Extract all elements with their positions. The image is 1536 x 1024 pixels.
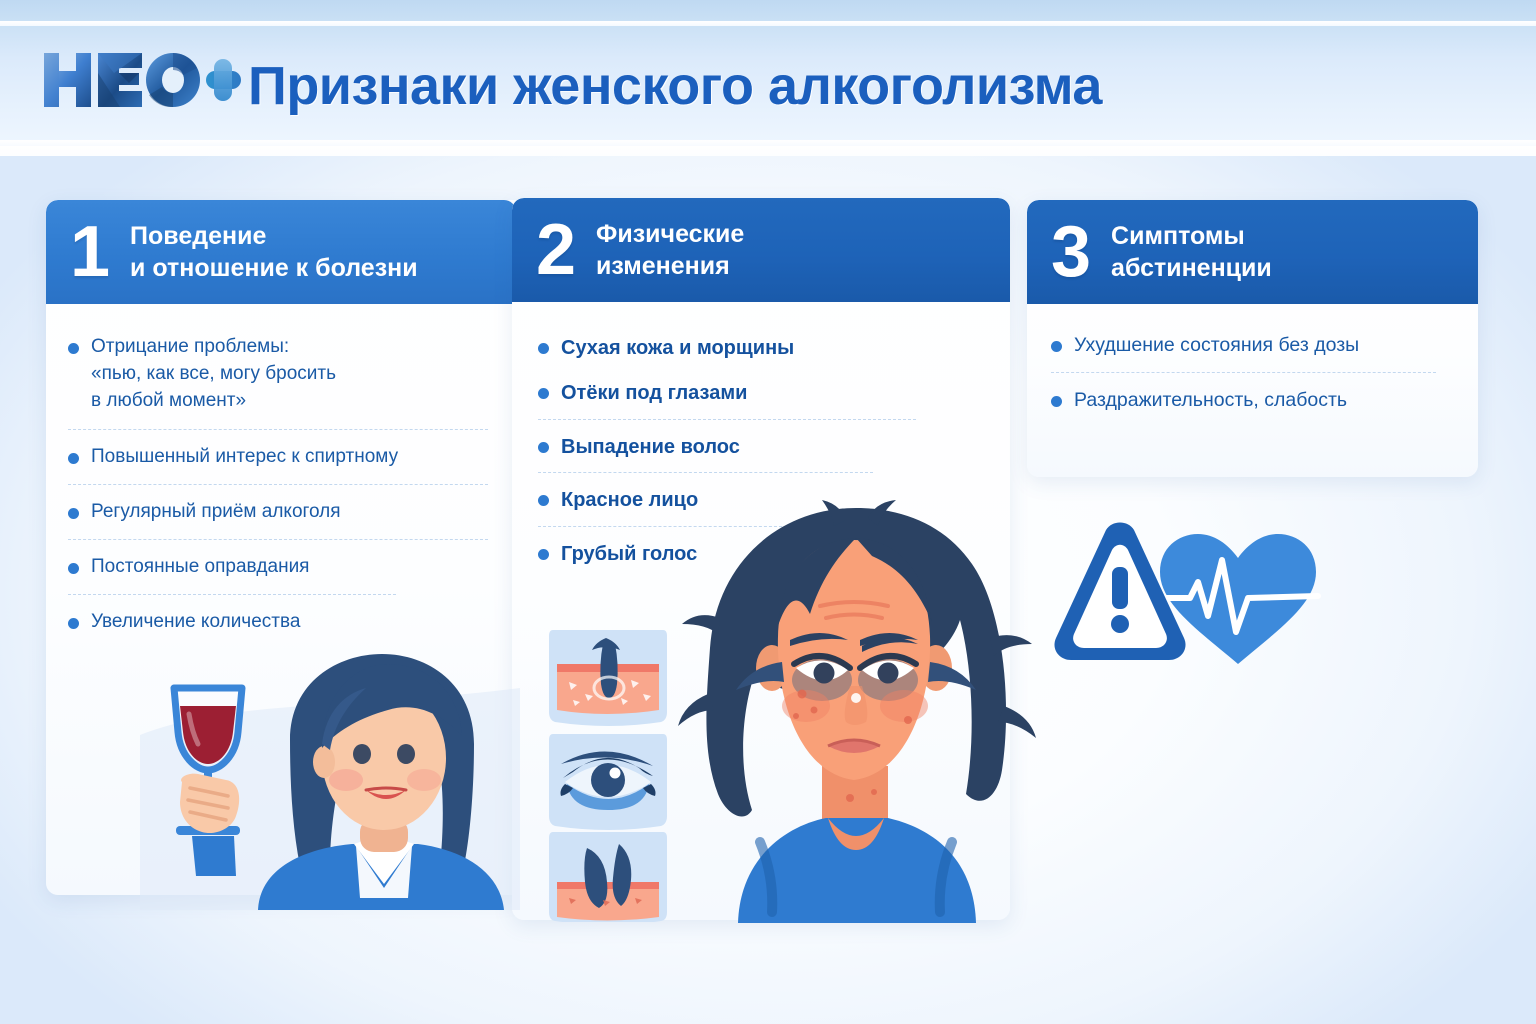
neo-plus-logo: НЕО+: [36, 47, 241, 113]
list-divider: [68, 429, 488, 430]
list-item[interactable]: Красное лицо: [538, 486, 968, 514]
list-divider: [68, 484, 488, 485]
card-title-line2: изменения: [596, 250, 744, 282]
list-item-label: Повышенный интерес к спиртному: [91, 444, 398, 471]
list-divider: [538, 472, 873, 473]
card-withdrawal-symptoms-list: Ухудшение состояния без дозы Раздражител…: [1051, 332, 1461, 414]
warning-and-heartbeat-illustration: [1048, 512, 1328, 682]
bullet-icon: [538, 549, 549, 560]
card-title-line1: Симптомы: [1111, 222, 1245, 250]
list-divider: [538, 419, 916, 420]
bullet-icon: [1051, 341, 1062, 352]
bullet-icon: [538, 495, 549, 506]
heart-with-ecg-icon: [1160, 534, 1318, 664]
list-item[interactable]: Увеличение количества: [68, 609, 488, 636]
list-item-label: Выпадение волос: [561, 433, 740, 461]
list-item[interactable]: Постоянные оправдания: [68, 554, 488, 581]
warning-triangle-icon: [1054, 523, 1185, 661]
card-behavior[interactable]: 1 Поведение и отношение к болезни Отрица…: [46, 200, 516, 895]
bullet-icon: [68, 508, 79, 519]
list-item-label: Грубый голос: [561, 540, 697, 568]
card-title-line2: и отношение к болезни: [130, 252, 418, 284]
card-behavior-list: Отрицание проблемы: «пью, как все, могу …: [68, 334, 488, 636]
list-item-label: Раздражительность, слабость: [1074, 387, 1347, 415]
list-item-label: Регулярный приём алкоголя: [91, 499, 341, 526]
list-item-label: Постоянные оправдания: [91, 554, 309, 581]
list-item[interactable]: Регулярный приём алкоголя: [68, 499, 488, 526]
list-item[interactable]: Отрицание проблемы: «пью, как все, могу …: [68, 334, 488, 415]
list-item[interactable]: Отёки под глазами: [538, 379, 968, 407]
list-item[interactable]: Грубый голос: [538, 540, 968, 568]
card-physical-changes[interactable]: 2 Физические изменения Сухая кожа и морщ…: [512, 198, 1010, 920]
bullet-icon: [538, 388, 549, 399]
list-divider: [1051, 372, 1436, 373]
list-item-label: Отёки под глазами: [561, 379, 747, 407]
bullet-icon: [538, 343, 549, 354]
card-physical-changes-header: 2 Физические изменения: [512, 198, 1010, 302]
page-title: Признаки женского алкоголизма: [248, 50, 1348, 122]
list-item-label: Сухая кожа и морщины: [561, 334, 794, 362]
card-title-line1: Поведение: [130, 222, 266, 250]
card-title-line2: абстиненции: [1111, 252, 1272, 284]
list-item-label: Красное лицо: [561, 486, 698, 514]
card-title: Симптомы абстиненции: [1111, 220, 1286, 284]
card-withdrawal-symptoms-header: 3 Симптомы абстиненции: [1027, 200, 1478, 304]
list-divider: [68, 594, 396, 595]
bullet-icon: [68, 563, 79, 574]
list-item[interactable]: Сухая кожа и морщины: [538, 334, 968, 362]
card-behavior-header: 1 Поведение и отношение к болезни: [46, 200, 516, 304]
bullet-icon: [68, 453, 79, 464]
card-title: Физические изменения: [596, 218, 758, 282]
list-divider: [538, 526, 787, 527]
list-item[interactable]: Ухудшение состояния без дозы: [1051, 332, 1461, 360]
card-number: 3: [1051, 216, 1091, 288]
list-item-label: Ухудшение состояния без дозы: [1074, 332, 1359, 360]
list-item-label: Увеличение количества: [91, 609, 300, 636]
list-item[interactable]: Раздражительность, слабость: [1051, 387, 1461, 415]
header-underglow: [0, 146, 1536, 156]
bullet-icon: [68, 618, 79, 629]
list-item[interactable]: Выпадение волос: [538, 433, 968, 461]
card-number: 1: [70, 216, 110, 288]
card-physical-changes-list: Сухая кожа и морщины Отёки под глазами В…: [538, 334, 968, 568]
list-divider: [68, 539, 488, 540]
header-top-rule: [0, 21, 1536, 26]
neo-plus-logo-icon: [36, 47, 241, 113]
bullet-icon: [1051, 396, 1062, 407]
card-number: 2: [536, 214, 576, 286]
card-title-line1: Физические: [596, 220, 744, 248]
infographic-canvas: НЕО+: [0, 0, 1536, 1024]
card-withdrawal-symptoms[interactable]: 3 Симптомы абстиненции Ухудшение состоян…: [1027, 200, 1478, 477]
card-title: Поведение и отношение к болезни: [130, 220, 432, 284]
bullet-icon: [538, 442, 549, 453]
list-item[interactable]: Повышенный интерес к спиртному: [68, 444, 488, 471]
list-item-label: Отрицание проблемы: «пью, как все, могу …: [91, 334, 336, 415]
bullet-icon: [68, 343, 79, 354]
